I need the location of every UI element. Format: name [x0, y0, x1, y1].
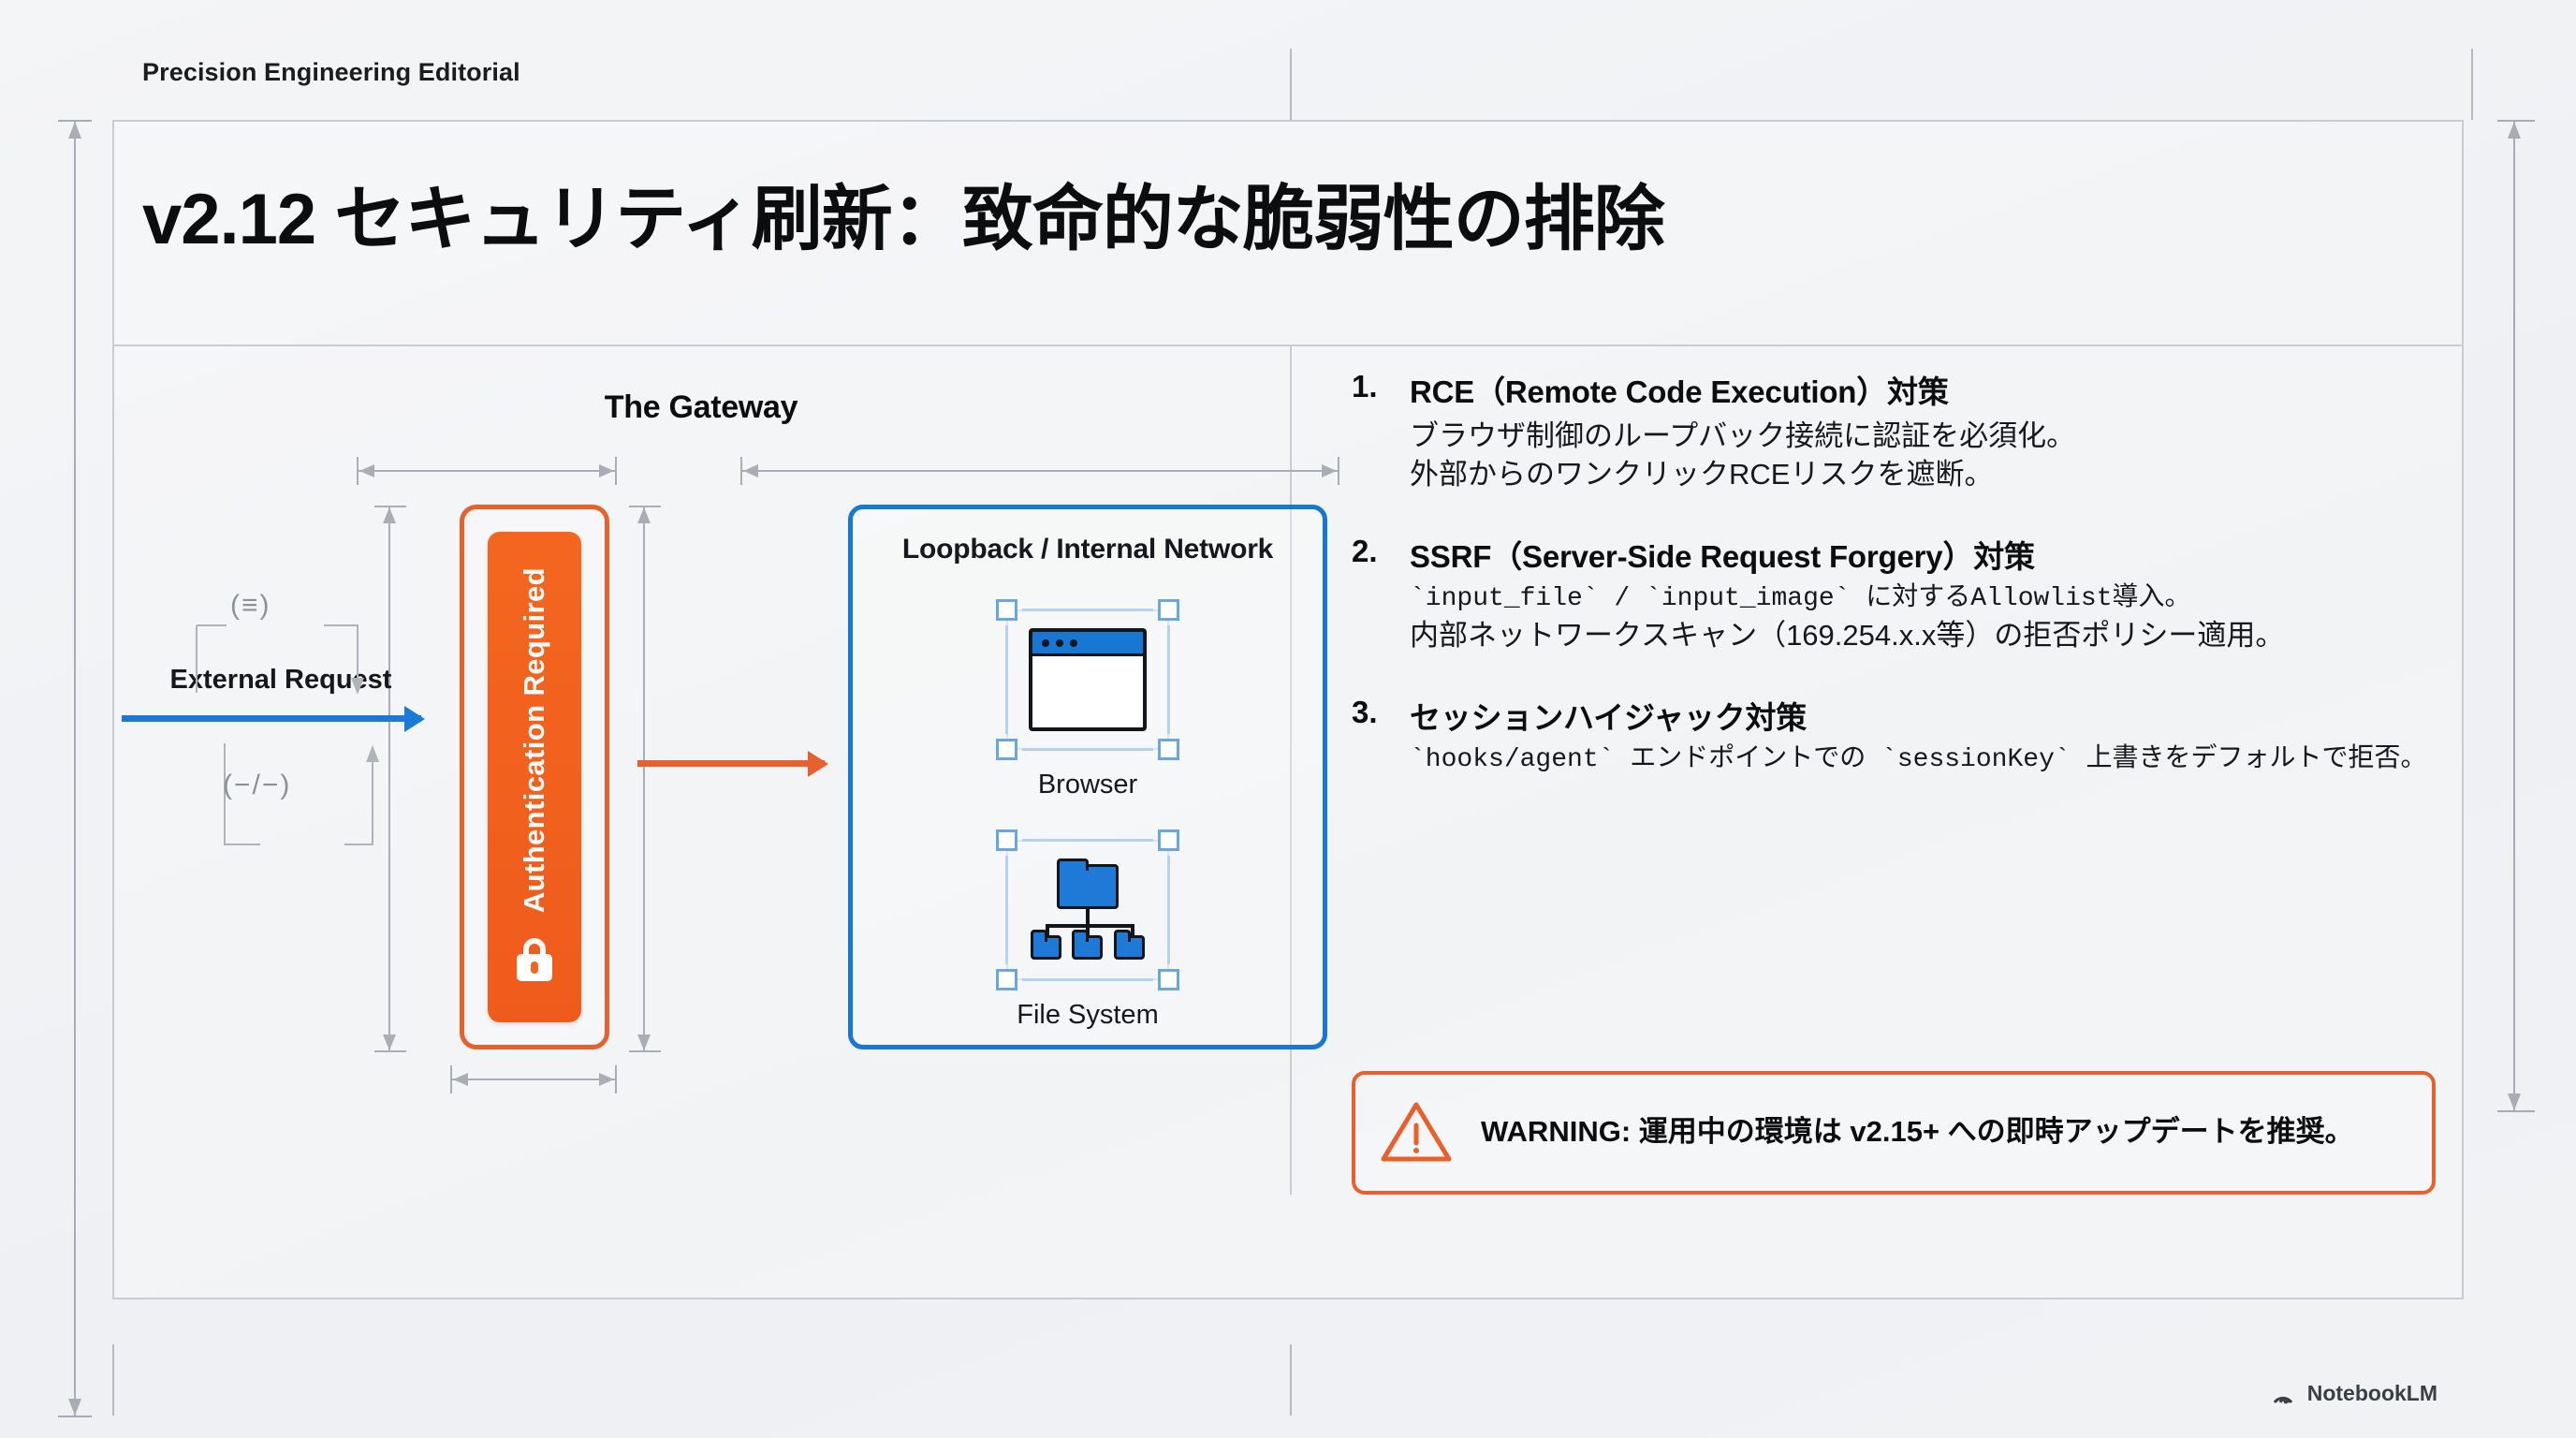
warning-callout: WARNING: 運用中の環境は v2.15+ への即時アップデートを推奨。: [1352, 1071, 2436, 1195]
content-panel: 1. RCE（Remote Code Execution）対策 ブラウザ制御のル…: [1352, 367, 2436, 1195]
security-measures-list: 1. RCE（Remote Code Execution）対策 ブラウザ制御のル…: [1352, 367, 2436, 778]
frame-dimension-left: [49, 114, 92, 1423]
list-item-heading: セッションハイジャック対策: [1410, 693, 2436, 738]
frame-dimension-right: [2497, 114, 2540, 1118]
list-item-number: 2.: [1352, 532, 1410, 655]
browser-icon: [1029, 628, 1147, 731]
loopback-title: Loopback / Internal Network: [853, 534, 1323, 565]
page-eyebrow: Precision Engineering Editorial: [142, 58, 520, 87]
authentication-required-bar[interactable]: Authentication Required: [488, 532, 581, 1022]
title-divider: [112, 345, 2464, 346]
sketch-annotation-bottom: [183, 734, 427, 874]
list-item-line: 外部からのワンクリックRCEリスクを遮断。: [1410, 456, 2436, 494]
list-item-line: 内部ネットワークスキャン（169.254.x.x等）の拒否ポリシー適用。: [1410, 617, 2436, 655]
file-system-selection-frame: [996, 829, 1179, 990]
list-item-line: `hooks/agent` エンドポイントでの `sessionKey` 上書き…: [1410, 743, 2436, 778]
slide-canvas: Precision Engineering Editorial v2.12 セキ…: [0, 0, 2576, 1438]
authentication-gateway-box[interactable]: Authentication Required: [460, 505, 609, 1049]
frame-tick-bottom-left: [1290, 1344, 1292, 1416]
warning-text: WARNING: 運用中の環境は v2.15+ への即時アップデートを推奨。: [1481, 1113, 2354, 1152]
browser-selection-frame: [996, 599, 1179, 760]
footer-brand-label: NotebookLM: [2307, 1381, 2437, 1406]
node-browser-label: Browser: [996, 770, 1179, 800]
folder-tree-icon: [1025, 855, 1150, 965]
list-item: 1. RCE（Remote Code Execution）対策 ブラウザ制御のル…: [1352, 367, 2436, 494]
external-request-arrow: [122, 715, 421, 722]
list-item-number: 1.: [1352, 367, 1410, 494]
page-title: v2.12 セキュリティ刷新：致命的な脆弱性の排除: [142, 161, 1664, 264]
dimension-auth-width-top: [348, 453, 629, 491]
frame-tick-top-right: [2471, 49, 2473, 120]
list-item: 2. SSRF（Server-Side Request Forgery）対策 `…: [1352, 532, 2436, 655]
frame-tick-bottom-mid: [112, 1344, 114, 1416]
lock-icon: [515, 938, 554, 981]
frame-tick-top-left: [1290, 49, 1292, 120]
list-item-line: ブラウザ制御のループバック接続に認証を必須化。: [1410, 418, 2436, 456]
notebooklm-logo-icon: [2272, 1383, 2296, 1405]
footer-brand: NotebookLM: [2272, 1381, 2437, 1406]
gateway-to-internal-arrow: [637, 760, 825, 767]
dimension-loopback-width-top: [732, 453, 1350, 491]
list-item-line: `input_file` / `input_image` に対するAllowli…: [1410, 582, 2436, 617]
sketch-annotation-top: [183, 580, 427, 712]
dimension-auth-width-bottom: [442, 1062, 629, 1099]
loopback-internal-network-box[interactable]: Loopback / Internal Network Browser: [848, 505, 1327, 1049]
sketch-glyph-top: (≡): [230, 590, 271, 622]
authentication-required-label: Authentication Required: [518, 567, 551, 913]
warning-triangle-icon: [1380, 1099, 1453, 1165]
node-file-system[interactable]: File System: [996, 829, 1179, 1031]
sketch-glyph-bottom: (−/−): [223, 770, 291, 801]
list-item-number: 3.: [1352, 693, 1410, 778]
list-item-heading: SSRF（Server-Side Request Forgery）対策: [1410, 532, 2436, 577]
list-item: 3. セッションハイジャック対策 `hooks/agent` エンドポイントでの…: [1352, 693, 2436, 778]
list-item-heading: RCE（Remote Code Execution）対策: [1410, 367, 2436, 412]
gateway-title: The Gateway: [112, 389, 1290, 426]
node-browser[interactable]: Browser: [996, 599, 1179, 800]
dimension-auth-height-right: [625, 498, 663, 1060]
architecture-diagram: The Gateway: [112, 367, 1290, 1195]
node-file-system-label: File System: [996, 1000, 1179, 1031]
